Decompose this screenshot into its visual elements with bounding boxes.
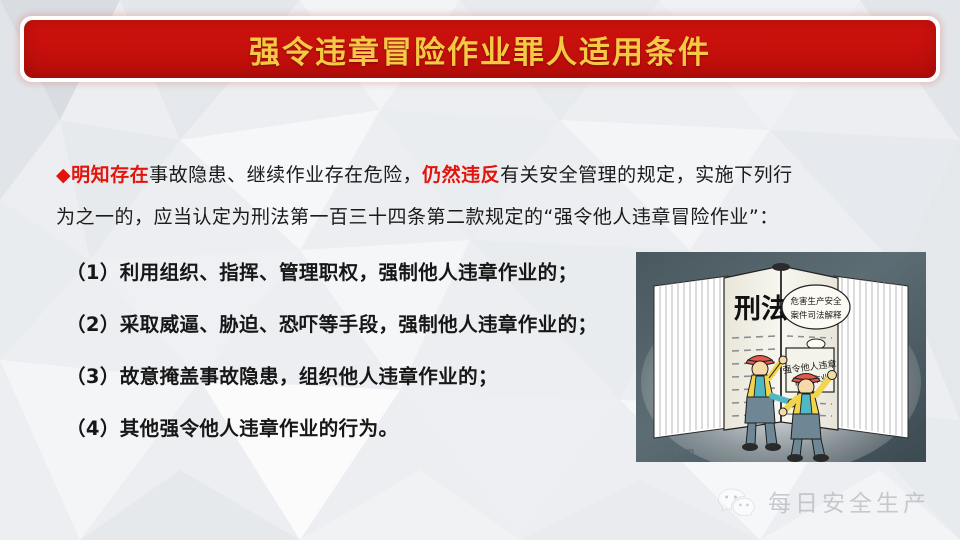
lead-highlight-1: 明知存在: [71, 164, 149, 186]
slide-title-plate: 强令违章冒险作业罪人适用条件: [24, 20, 936, 78]
lead-paragraph-line-2: 为之一的，应当认定为刑法第一百三十四条第二款规定的“强令他人违章冒险作业”：: [56, 202, 912, 229]
wechat-icon: [716, 486, 756, 516]
list-item: （2）采取威逼、胁迫、恐吓等手段，强制他人违章作业的；: [66, 308, 597, 337]
slide-title-bar: 强令违章冒险作业罪人适用条件: [20, 16, 940, 82]
brand-name: 每日安全生产: [768, 484, 930, 518]
list-item: （3）故意掩盖事故隐患，组织他人违章作业的；: [66, 360, 498, 389]
slide-root: 强令违章冒险作业罪人适用条件 ◆明知存在事故隐患、继续作业存在危险，仍然违反有关…: [0, 0, 960, 540]
bubble-line-2: 案件司法解释: [790, 310, 842, 321]
diamond-bullet-icon: ◆: [56, 164, 71, 186]
illustration-criminal-law-book: 刑法 危害生产安全 案件司法解释 强令他人违章 冒险作业: [636, 252, 926, 462]
lead-highlight-2: 仍然违反: [422, 164, 500, 186]
list-item: （4）其他强令他人违章作业的行为。: [66, 412, 398, 441]
bubble-line-1: 危害生产安全: [790, 296, 842, 307]
lead-paragraph-line-1: ◆明知存在事故隐患、继续作业存在危险，仍然违反有关安全管理的规定，实施下列行: [56, 160, 912, 187]
brand-footer: 每日安全生产: [716, 484, 930, 518]
book-title-text: 刑法: [734, 294, 788, 325]
page-title: 强令违章冒险作业罪人适用条件: [249, 27, 711, 72]
illustration-watermark: infzm.com: [642, 447, 694, 457]
lead-text-tail: 有关安全管理的规定，实施下列行: [500, 164, 793, 186]
list-item: （1）利用组织、指挥、管理职权，强制他人违章作业的；: [66, 256, 577, 285]
lead-text-middle: 事故隐患、继续作业存在危险，: [149, 164, 422, 186]
